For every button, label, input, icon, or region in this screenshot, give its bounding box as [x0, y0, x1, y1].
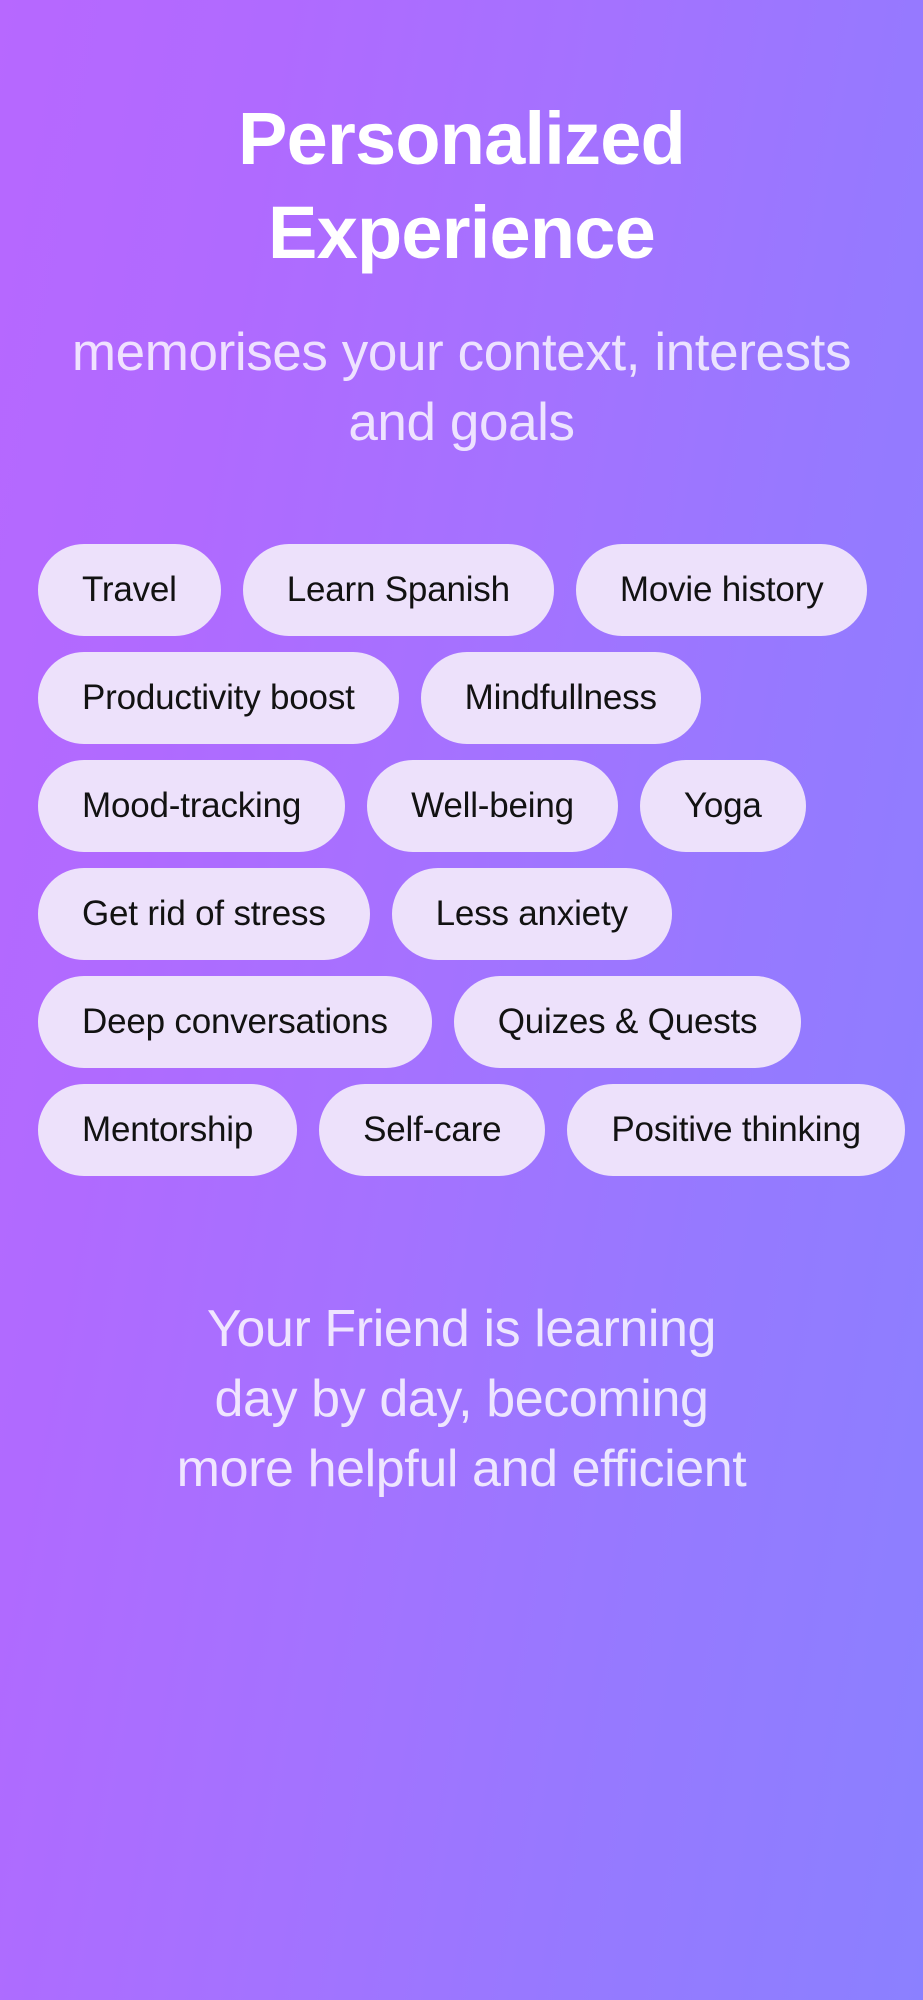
interest-tag[interactable]: Quizes & Quests: [454, 976, 802, 1068]
interest-tag[interactable]: Productivity boost: [38, 652, 399, 744]
footer-caption-line-1: Your Friend is learning: [30, 1294, 893, 1364]
tag-row: Mentorship Self-care Positive thinking: [0, 1084, 923, 1176]
page-title-line-2: Experience: [268, 191, 655, 274]
interest-tag[interactable]: Get rid of stress: [38, 868, 370, 960]
tag-row: Productivity boost Mindfullness: [0, 652, 923, 744]
footer-caption-line-2: day by day, becoming: [30, 1364, 893, 1434]
interest-tag[interactable]: Deep conversations: [38, 976, 432, 1068]
tag-row: Travel Learn Spanish Movie history: [0, 544, 923, 636]
page-title: Personalized Experience: [0, 92, 923, 280]
interest-tag[interactable]: Well-being: [367, 760, 618, 852]
tag-row: Deep conversations Quizes & Quests: [0, 976, 923, 1068]
interest-tag[interactable]: Self-care: [319, 1084, 545, 1176]
onboarding-screen: Personalized Experience memorises your c…: [0, 0, 923, 2000]
interest-tag[interactable]: Less anxiety: [392, 868, 672, 960]
interest-tag[interactable]: Mentorship: [38, 1084, 297, 1176]
interest-tag[interactable]: Mindfullness: [421, 652, 701, 744]
interest-tag-cloud: Travel Learn Spanish Movie history Produ…: [0, 544, 923, 1176]
page-title-line-1: Personalized: [238, 97, 685, 180]
interest-tag[interactable]: Yoga: [640, 760, 806, 852]
footer-caption: Your Friend is learning day by day, beco…: [0, 1294, 923, 1505]
interest-tag[interactable]: Mood-tracking: [38, 760, 345, 852]
footer-caption-line-3: more helpful and efficient: [30, 1434, 893, 1504]
interest-tag[interactable]: Travel: [38, 544, 221, 636]
page-subtitle-line-1: memorises your context,: [72, 323, 640, 382]
page-subtitle: memorises your context, interests and go…: [0, 318, 923, 458]
tag-row: Get rid of stress Less anxiety: [0, 868, 923, 960]
interest-tag[interactable]: Positive thinking: [567, 1084, 905, 1176]
interest-tag[interactable]: Learn Spanish: [243, 544, 554, 636]
tag-row: Mood-tracking Well-being Yoga: [0, 760, 923, 852]
interest-tag[interactable]: Movie history: [576, 544, 868, 636]
